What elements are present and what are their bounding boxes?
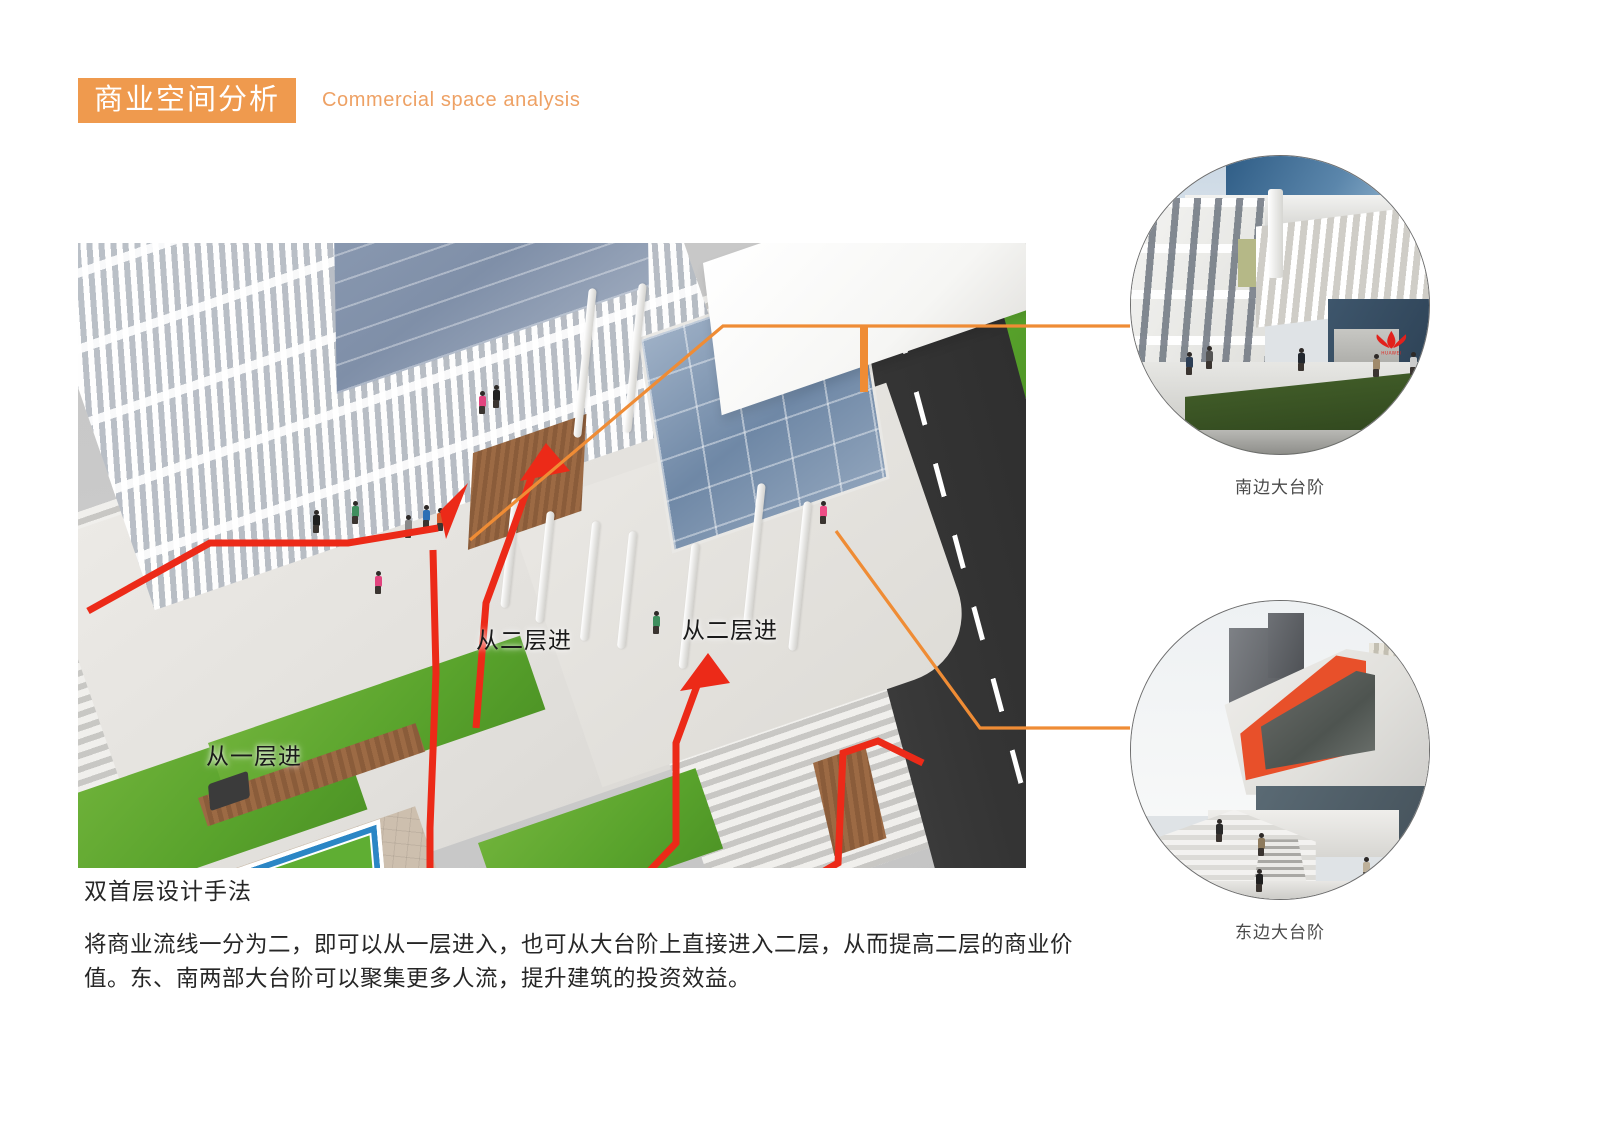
inset-south-steps-photo: HUAWEI	[1130, 155, 1430, 455]
inset-east-steps-caption: 东边大台阶	[1130, 918, 1430, 943]
inset2-background-tower-b	[1268, 613, 1304, 679]
caption-heading: 双首层设计手法	[84, 872, 252, 906]
inset-east-steps-photo	[1130, 600, 1430, 900]
main-render-image: 从二层进 从一层进 从二层进	[78, 243, 1026, 868]
callout-enter-second-floor-top: 从二层进	[476, 621, 572, 655]
inset-east-steps: 东边大台阶	[1130, 600, 1430, 943]
inset-south-steps-caption: 南边大台阶	[1130, 473, 1430, 498]
page-title: 商业空间分析	[78, 78, 296, 123]
callout-enter-second-floor-right: 从二层进	[682, 611, 778, 645]
inset1-column	[1268, 189, 1283, 278]
page-subtitle: Commercial space analysis	[322, 89, 580, 112]
huawei-logo-icon: HUAWEI	[1366, 329, 1417, 356]
slide-header: 商业空间分析 Commercial space analysis	[78, 78, 580, 123]
caption-body: 将商业流线一分为二，即可以从一层进入，也可从大台阶上直接进入二层，从而提高二层的…	[84, 928, 1094, 996]
slide-canvas: 商业空间分析 Commercial space analysis	[0, 0, 1610, 1145]
inset1-kerb	[1131, 430, 1429, 454]
inset2-ground-plane	[1131, 881, 1429, 899]
callout-enter-first-floor: 从一层进	[206, 737, 302, 771]
huawei-wordmark: HUAWEI	[1382, 350, 1402, 355]
inset-south-steps: HUAWEI 南边大台阶	[1130, 155, 1430, 498]
